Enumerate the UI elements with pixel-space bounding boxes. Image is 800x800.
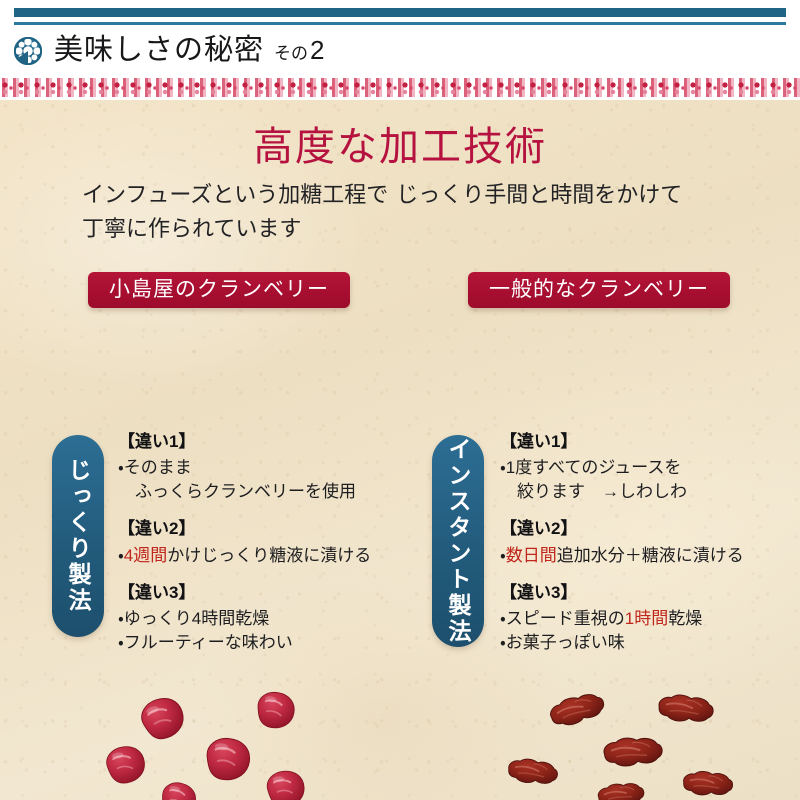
difference-list-kojimaya: 【違い1】 ・そのまま ふっくらクランベリーを使用 【違い2】 ・4週間かけじっ… <box>118 430 418 668</box>
berry <box>679 761 738 800</box>
berry <box>503 749 563 792</box>
decorative-pattern-band <box>0 78 800 100</box>
difference-group: 【違い3】 ・スピード重視の1時間乾燥 ・お菓子っぽい味 <box>500 581 800 655</box>
difference-line: ・フルーティーな味わい <box>118 631 418 655</box>
difference-line: ・お菓子っぽい味 <box>500 631 800 655</box>
lead-line2: 丁寧に作られています <box>82 216 301 241</box>
header-rule-thick <box>14 8 786 17</box>
difference-line: ・4週間かけじっくり糖液に漬ける <box>118 544 418 568</box>
difference-group: 【違い2】 ・4週間かけじっくり糖液に漬ける <box>118 517 418 567</box>
difference-heading: 【違い1】 <box>500 430 800 454</box>
page-header: 美味しさの秘密 その 2 <box>0 0 800 78</box>
difference-heading: 【違い1】 <box>118 430 418 454</box>
header-rule-thin <box>14 22 786 25</box>
header-subtitle-prefix: その <box>274 39 308 64</box>
berry <box>92 739 156 791</box>
difference-heading: 【違い3】 <box>500 581 800 605</box>
berry <box>195 730 256 788</box>
highlighted-term: 4週間 <box>124 546 167 565</box>
berry-group-plump <box>100 685 400 800</box>
difference-heading: 【違い2】 <box>118 517 418 541</box>
difference-group: 【違い1】 ・1度すべてのジュースを 絞ります →しわしわ <box>500 430 800 504</box>
lead-paragraph: インフューズという加糖工程でじっくり手間と時間をかけて 丁寧に作られています <box>82 178 742 246</box>
difference-group: 【違い2】 ・数日間追加水分＋糖液に漬ける <box>500 517 800 567</box>
page-title: 高度な加工技術 <box>0 114 800 172</box>
berry <box>246 683 301 737</box>
berry <box>541 683 612 735</box>
header-subtitle-number: 2 <box>310 35 324 66</box>
difference-line: 絞ります →しわしわ <box>500 480 800 504</box>
method-tab-jikkuri: じっくり製法 <box>52 435 104 637</box>
column-banner-generic: 一般的なクランベリー <box>468 272 730 308</box>
berry <box>259 765 310 800</box>
flower-seal-icon <box>14 37 42 65</box>
column-banner-kojimaya: 小島屋のクランベリー <box>88 272 350 308</box>
difference-group: 【違い1】 ・そのまま ふっくらクランベリーを使用 <box>118 430 418 504</box>
highlighted-term: 数日間 <box>506 546 557 565</box>
berry <box>599 729 667 772</box>
berry <box>653 684 719 732</box>
method-tab-instant: インスタント製法 <box>432 435 484 647</box>
main-content: 高度な加工技術 インフューズという加糖工程でじっくり手間と時間をかけて 丁寧に作… <box>0 100 800 800</box>
difference-line: ・ゆっくり4時間乾燥 <box>118 607 418 631</box>
berry-group-shriveled <box>515 685 800 800</box>
header-title-row: 美味しさの秘密 その 2 <box>14 26 324 76</box>
berry <box>593 774 648 800</box>
infographic-page: 美味しさの秘密 その 2 高度な加工技術 インフューズという加糖工程でじっくり手… <box>0 0 800 800</box>
difference-line: ・スピード重視の1時間乾燥 <box>500 607 800 631</box>
difference-line: ふっくらクランベリーを使用 <box>118 480 418 504</box>
header-title: 美味しさの秘密 <box>54 26 264 68</box>
difference-list-generic: 【違い1】 ・1度すべてのジュースを 絞ります →しわしわ 【違い2】 ・数日間… <box>500 430 800 668</box>
difference-heading: 【違い3】 <box>118 581 418 605</box>
difference-heading: 【違い2】 <box>500 517 800 541</box>
difference-line: ・そのまま <box>118 456 418 480</box>
highlighted-term: 1時間 <box>625 609 668 628</box>
lead-line1-part-a: インフューズという加糖工程で <box>82 182 388 207</box>
lead-line1-part-b: じっくり手間と時間をかけて <box>396 182 682 207</box>
difference-group: 【違い3】 ・ゆっくり4時間乾燥 ・フルーティーな味わい <box>118 581 418 655</box>
difference-line: ・数日間追加水分＋糖液に漬ける <box>500 544 800 568</box>
difference-line: ・1度すべてのジュースを <box>500 456 800 480</box>
